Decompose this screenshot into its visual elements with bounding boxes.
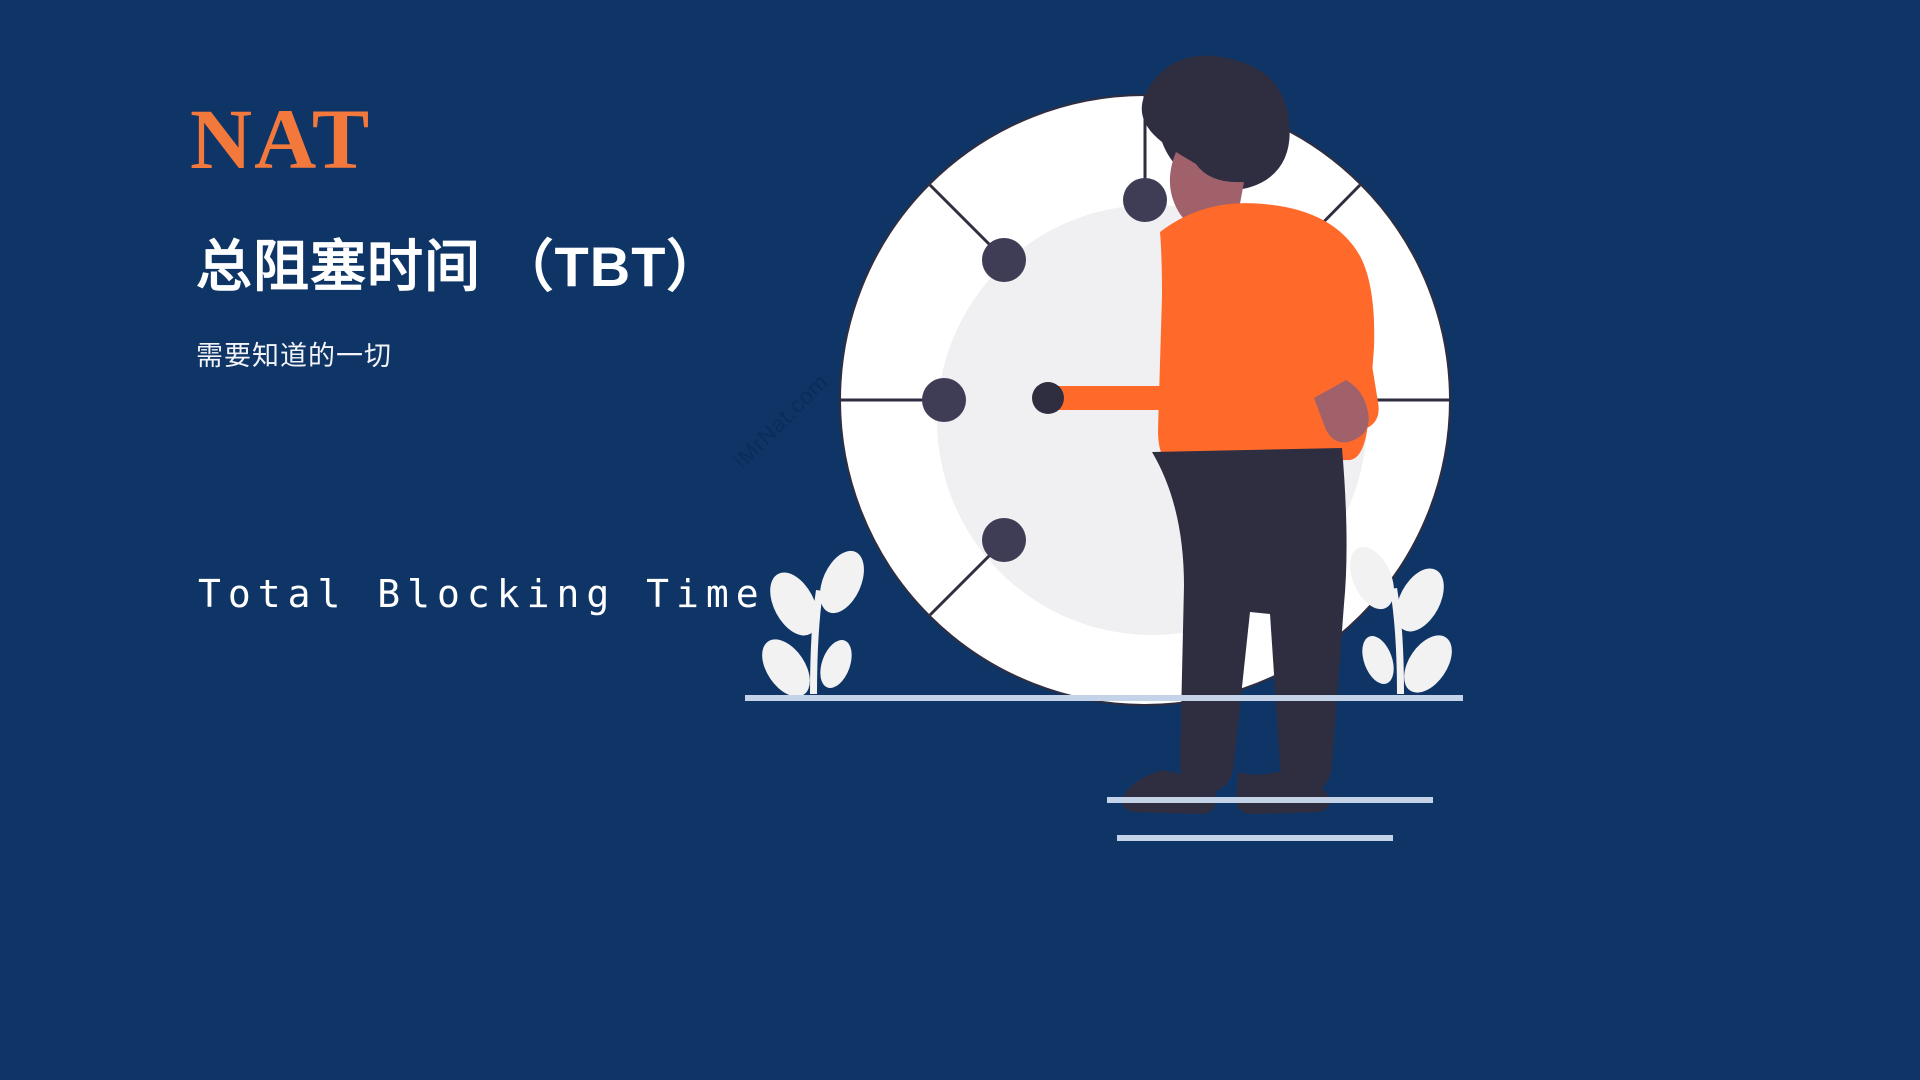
- plant-left-leaf-3: [752, 631, 819, 705]
- clock-illustration: [690, 0, 1920, 1080]
- page-subtitle: 需要知道的一切: [196, 334, 392, 373]
- ground-lines: [748, 698, 1460, 838]
- plant-left: [752, 544, 872, 705]
- person-shoe-left: [1122, 770, 1216, 814]
- clock-hand-tail-cap: [1032, 382, 1064, 414]
- brand-logo: NAT: [190, 96, 371, 182]
- marker-dot-8: [982, 518, 1026, 562]
- plant-right-leaf-4: [1356, 632, 1399, 689]
- slide-canvas: NAT 总阻塞时间 （TBT） 需要知道的一切 Total Blocking T…: [0, 0, 1920, 1080]
- marker-dot-9: [922, 378, 966, 422]
- english-title: Total Blocking Time: [198, 572, 766, 616]
- marker-dot-10: [982, 238, 1026, 282]
- plant-left-leaf-4: [814, 636, 857, 693]
- marker-dot-12: [1123, 178, 1167, 222]
- plant-right-leaf-3: [1394, 627, 1461, 701]
- page-title: 总阻塞时间 （TBT）: [196, 222, 723, 303]
